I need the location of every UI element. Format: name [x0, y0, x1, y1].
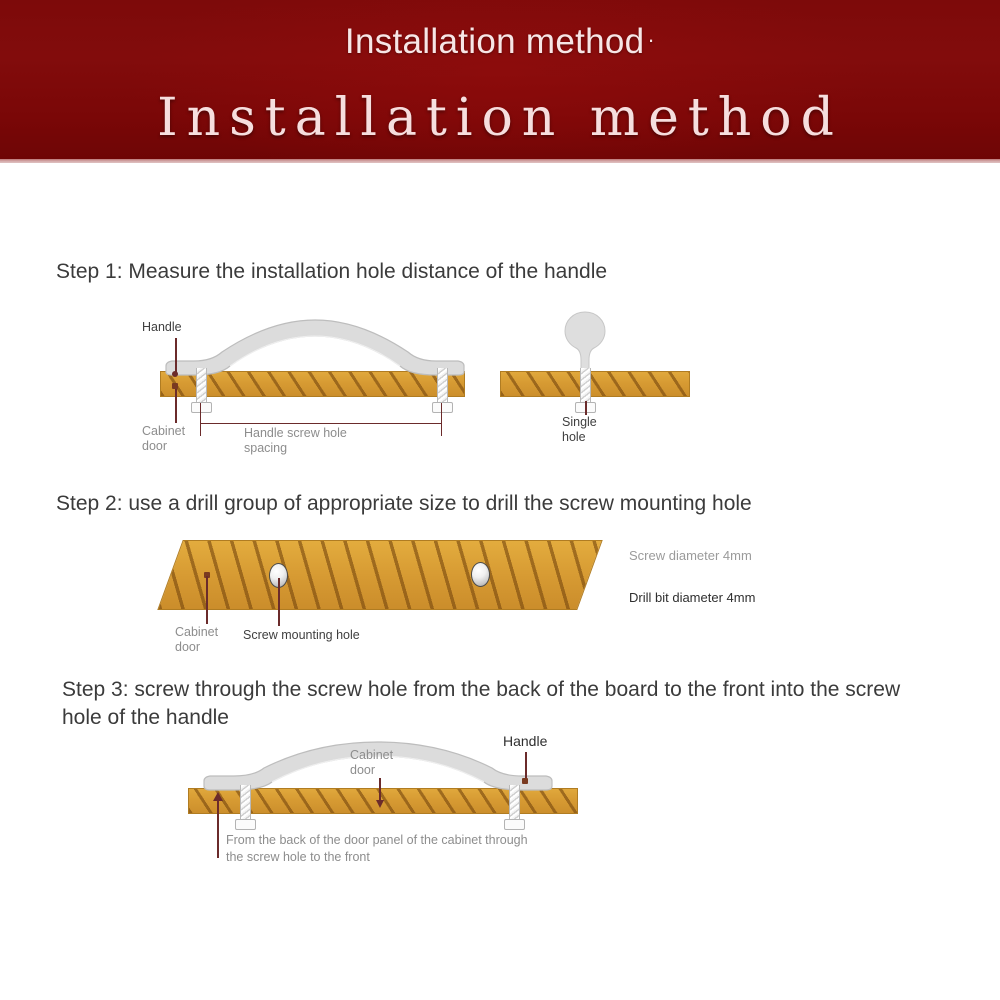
step-3-handle-dot [522, 778, 528, 784]
screw-step3-left [240, 785, 251, 819]
step-3-from-back-label: From the back of the door panel of the c… [226, 832, 528, 866]
screw-coil [240, 785, 251, 819]
screw-head [235, 819, 256, 830]
step-3-figure: Cabinet door Handle From the back of the… [0, 0, 1000, 880]
installation-instruction-page: Installation method· Installation method… [0, 0, 1000, 1000]
screw-head [504, 819, 525, 830]
screw-coil [509, 785, 520, 819]
step-3-handle-label: Handle [503, 733, 547, 750]
step-3-cabinet-door-leader [379, 778, 381, 802]
step-3-cabinet-door-label: Cabinet door [350, 748, 393, 778]
step-3-from-back-leader [217, 800, 219, 858]
step-3-cabinet-door-arrow [376, 800, 384, 808]
screw-step3-right [509, 785, 520, 819]
step-3-handle-leader [525, 752, 527, 780]
